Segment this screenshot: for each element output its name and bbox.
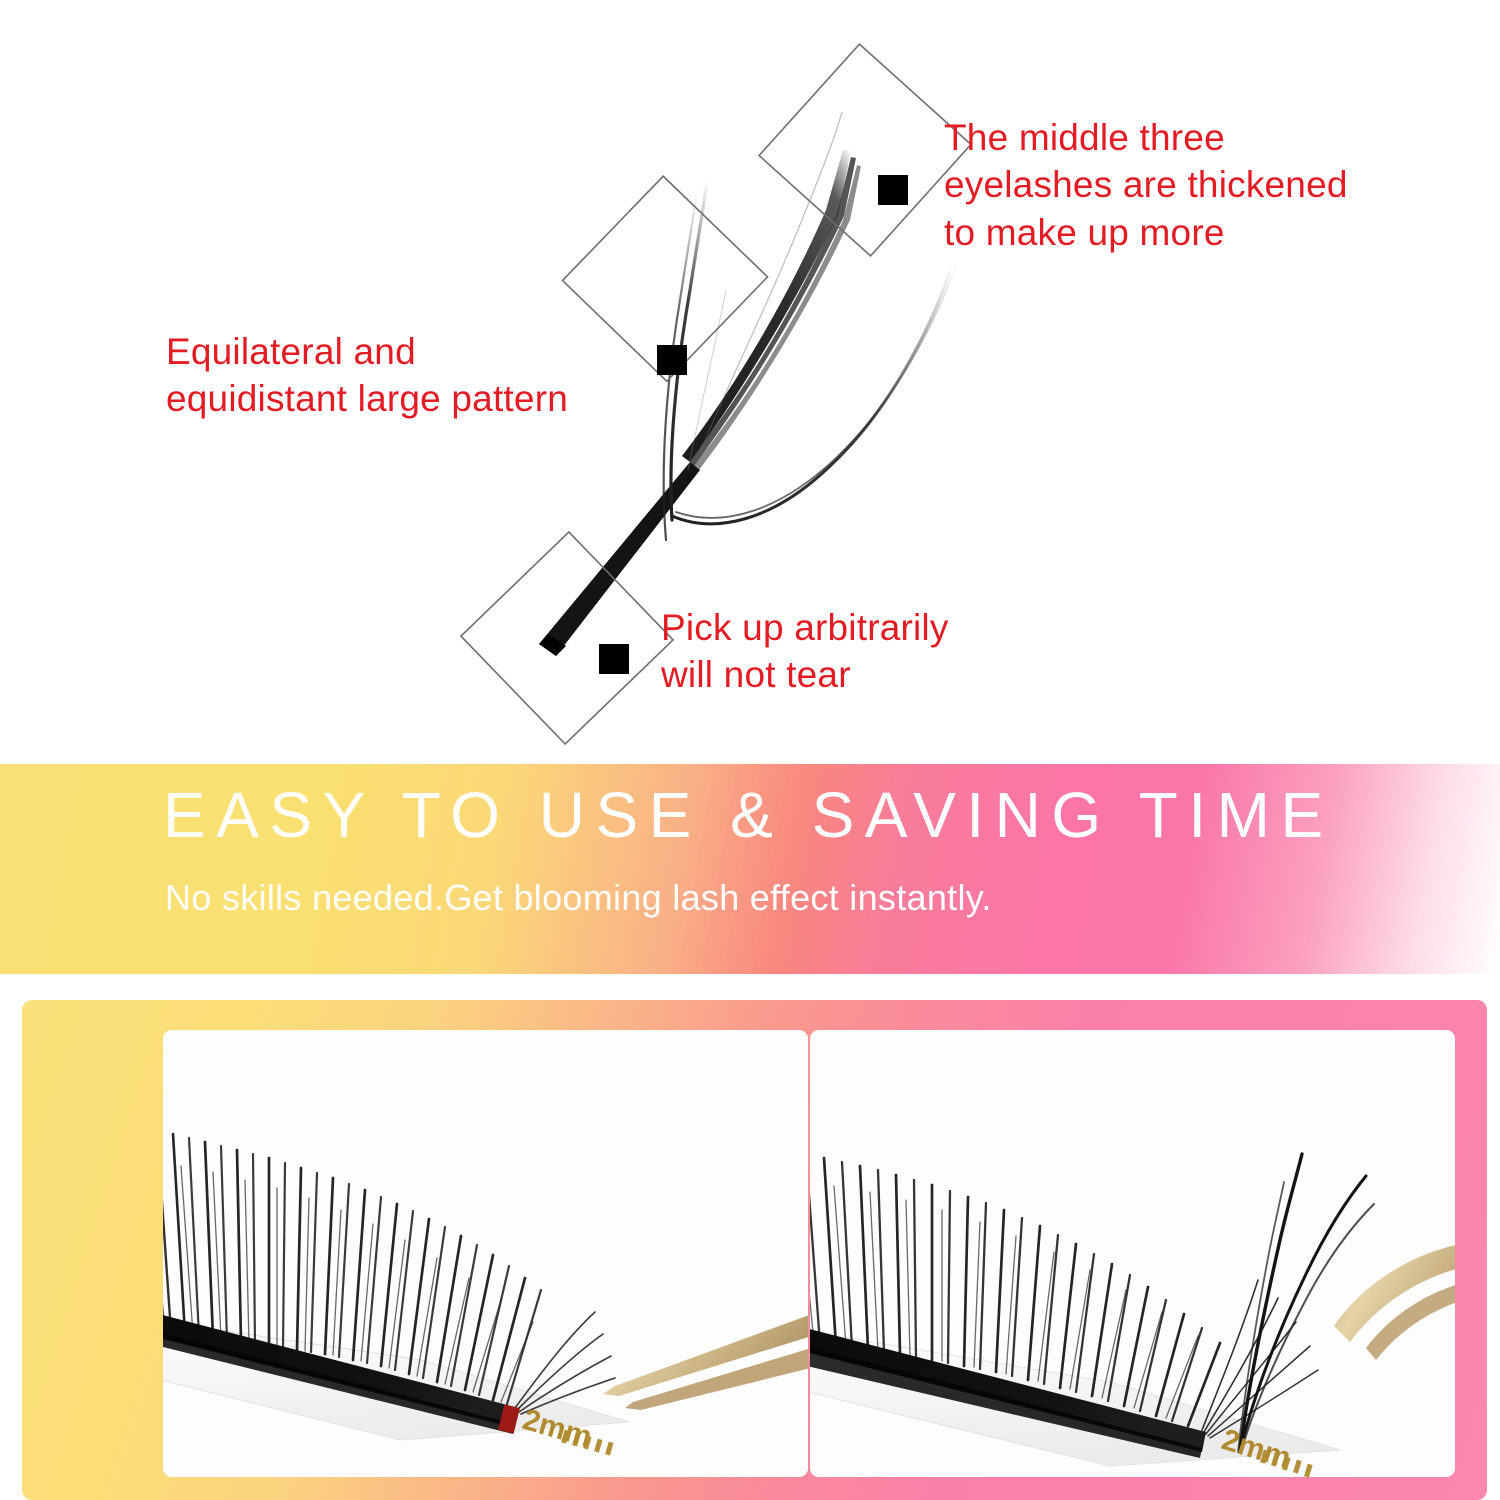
lash-tray-with-tweezers-photo: 2mm bbox=[163, 1030, 808, 1477]
lash-fan-picked-by-tweezers-photo: 2mm bbox=[810, 1030, 1455, 1477]
photo-card-right: 2mm bbox=[810, 1030, 1455, 1477]
marker-top-right bbox=[759, 44, 971, 256]
callout-pick-up-text: Pick up arbitrarily will not tear bbox=[661, 604, 949, 699]
diagram-section: The middle three eyelashes are thickened… bbox=[0, 0, 1500, 764]
lash-thin-right bbox=[672, 260, 958, 524]
photo-card-left: 2mm bbox=[163, 1030, 808, 1477]
banner-subheadline: No skills needed.Get blooming lash effec… bbox=[165, 877, 992, 919]
callout-equilateral-text: Equilateral and equidistant large patter… bbox=[166, 328, 568, 423]
photo-panel: 2mm bbox=[22, 1000, 1487, 1500]
marker-middle-left bbox=[562, 176, 767, 381]
photos-section: 2mm bbox=[0, 974, 1500, 1500]
callout-middle-three-text: The middle three eyelashes are thickened… bbox=[944, 114, 1348, 256]
banner-section: EASY TO USE & SAVING TIME No skills need… bbox=[0, 764, 1500, 974]
banner-headline: EASY TO USE & SAVING TIME bbox=[163, 780, 1334, 850]
lash-middle-bundle bbox=[682, 150, 861, 470]
